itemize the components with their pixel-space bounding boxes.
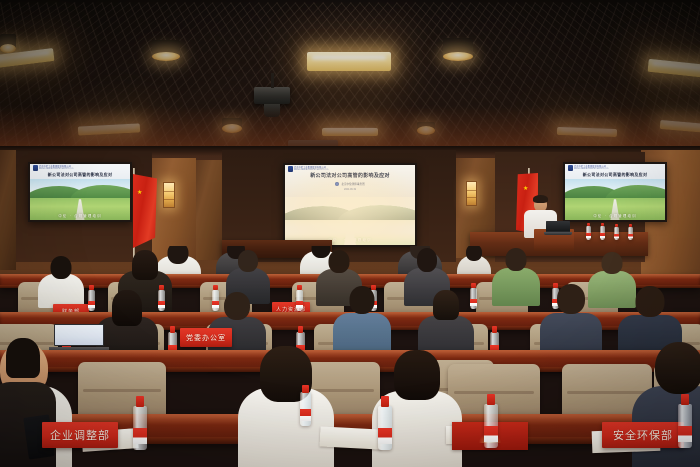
sconce-line bbox=[467, 197, 476, 198]
bottle-cap bbox=[298, 326, 304, 332]
bottle-label bbox=[678, 426, 692, 442]
logo-mark-icon bbox=[288, 166, 293, 172]
logo-subtext: BEIJING CHEMICAL INDUSTRY GROUP CO., LTD bbox=[294, 170, 329, 171]
bottle-cap bbox=[629, 224, 632, 227]
bottle-label bbox=[378, 428, 392, 444]
logo-mark-icon bbox=[568, 165, 573, 171]
slide-header: 北京中伦工业集团股份有限公司 BEIJING CHEMICAL INDUSTRY… bbox=[30, 164, 130, 179]
bottle-cap bbox=[601, 223, 604, 226]
bottle-cap bbox=[471, 283, 475, 288]
logo-subtext: BEIJING CHEMICAL INDUSTRY GROUP CO., LTD bbox=[39, 169, 74, 170]
sconce-line bbox=[164, 199, 174, 200]
bottle-cap bbox=[381, 396, 390, 407]
attendee-head bbox=[506, 248, 527, 271]
red-flag-left: ★ bbox=[133, 174, 157, 248]
wall-sconce-light bbox=[466, 181, 477, 206]
water-bottle bbox=[378, 406, 392, 450]
screen-surface: 北京中伦工业集团股份有限公司 BEIJING CHEMICAL INDUSTRY… bbox=[285, 165, 415, 245]
ceiling bbox=[0, 0, 700, 152]
water-bottle bbox=[158, 290, 165, 311]
attendee-head bbox=[6, 338, 40, 378]
bottle-cap bbox=[487, 394, 496, 405]
water-bottle bbox=[614, 227, 619, 240]
attendee-torso bbox=[492, 268, 540, 306]
attendee-head bbox=[112, 290, 142, 326]
water-bottle bbox=[678, 404, 692, 448]
attendee-head bbox=[132, 250, 158, 280]
slide-title: 新公司法对公司高管的影响及应对 bbox=[583, 171, 648, 178]
bottle-cap bbox=[681, 394, 690, 405]
nameplate-text: 安全环保部 bbox=[613, 427, 673, 443]
bottle-cap bbox=[615, 224, 618, 227]
bottle-cap bbox=[587, 223, 590, 226]
water-bottle bbox=[300, 392, 311, 426]
flag-star-icon: ★ bbox=[523, 186, 528, 193]
bottle-label bbox=[586, 233, 591, 238]
bottle-cap bbox=[297, 285, 301, 290]
attendee-head bbox=[557, 284, 585, 314]
desk-nameplate: 安全环保部 bbox=[602, 422, 684, 448]
slide-header: 北京中伦工业集团股份有限公司 BEIJING CHEMICAL INDUSTRY… bbox=[285, 165, 415, 197]
company-logo: 北京中伦工业集团股份有限公司 BEIJING CHEMICAL INDUSTRY… bbox=[33, 165, 74, 171]
nameplate-text: 企业调整部 bbox=[50, 427, 110, 443]
attendee-head bbox=[466, 246, 482, 261]
bottle-label bbox=[484, 426, 498, 442]
attendee-head bbox=[433, 290, 459, 320]
slide-header: 北京中伦工业集团股份有限公司 BEIJING CHEMICAL INDUSTRY… bbox=[565, 164, 665, 179]
seated-attendee bbox=[238, 346, 334, 467]
side-projection-screen-right: 北京中伦工业集团股份有限公司 BEIJING CHEMICAL INDUSTRY… bbox=[563, 162, 667, 222]
sconce-line bbox=[164, 191, 174, 192]
wall-sconce-light bbox=[163, 182, 175, 208]
presenter-name: 北京中伦律师事务所 bbox=[341, 182, 364, 186]
attendee-head bbox=[417, 248, 437, 272]
nameplate-text: 党委办公室 bbox=[186, 333, 226, 343]
paper-handout bbox=[320, 426, 383, 449]
company-logo: 北京中伦工业集团股份有限公司 BEIJING CHEMICAL INDUSTRY… bbox=[288, 166, 329, 172]
slide-photo: 中伦 · 合规管理培训 bbox=[565, 179, 665, 220]
audience-floor-area: 财务部 人力资源部 bbox=[0, 246, 700, 467]
water-bottle bbox=[586, 226, 591, 240]
screen-surface: 北京中伦工业集团股份有限公司 BEIJING CHEMICAL INDUSTRY… bbox=[565, 164, 665, 220]
seated-attendee bbox=[457, 246, 491, 276]
slide-photo: 中伦 · 合规管理培训 bbox=[30, 179, 130, 220]
side-projection-screen-left: 北京中伦工业集团股份有限公司 BEIJING CHEMICAL INDUSTRY… bbox=[28, 162, 132, 222]
main-projection-screen: 北京中伦工业集团股份有限公司 BEIJING CHEMICAL INDUSTRY… bbox=[283, 163, 417, 247]
sconce-line bbox=[467, 190, 476, 191]
bottle-cap bbox=[492, 326, 498, 332]
bottle-label bbox=[133, 428, 147, 444]
water-bottle bbox=[296, 290, 303, 311]
desk-nameplate: 党委办公室 bbox=[180, 328, 232, 347]
attendee-head bbox=[51, 256, 72, 279]
bottle-cap bbox=[89, 285, 93, 290]
attendee-head bbox=[602, 252, 623, 274]
slide-tagline: 中伦 · 合规管理培训 bbox=[30, 213, 130, 218]
company-logo: 北京中伦工业集团股份有限公司 BEIJING CHEMICAL INDUSTRY… bbox=[568, 165, 609, 171]
water-bottle bbox=[628, 227, 633, 240]
conference-room-photo: 北京中伦工业集团股份有限公司 BEIJING CHEMICAL INDUSTRY… bbox=[0, 0, 700, 467]
bottle-label bbox=[300, 409, 311, 421]
bottle-cap bbox=[170, 326, 176, 332]
water-bottle bbox=[88, 290, 95, 311]
bottle-cap bbox=[213, 285, 217, 290]
attendee-head bbox=[224, 292, 250, 320]
bottle-cap bbox=[136, 396, 145, 407]
water-bottle bbox=[484, 404, 498, 448]
attendee-head bbox=[329, 250, 350, 273]
wall-wood-panel bbox=[196, 160, 222, 260]
seated-attendee bbox=[492, 248, 540, 306]
logo-subtext: BEIJING CHEMICAL INDUSTRY GROUP CO., LTD bbox=[574, 169, 609, 170]
slide-date: 2024.06.19 bbox=[344, 188, 356, 191]
bottle-cap bbox=[302, 385, 309, 393]
water-bottle bbox=[133, 406, 147, 450]
slide-title: 新公司法对公司高管的影响及应对 bbox=[48, 171, 113, 178]
desk-nameplate: 企业调整部 bbox=[42, 422, 118, 448]
presenter-seal-icon bbox=[335, 182, 339, 186]
attendee-head bbox=[394, 350, 440, 400]
bottle-cap bbox=[159, 285, 163, 290]
slide-tagline: 中伦 · 合规管理培训 bbox=[565, 213, 665, 218]
bottle-label bbox=[158, 301, 165, 309]
bottle-label bbox=[614, 234, 619, 239]
water-bottle bbox=[600, 226, 605, 240]
attendee-head bbox=[636, 286, 665, 317]
bottle-label bbox=[628, 234, 633, 239]
slide-presenter: 北京中伦律师事务所 bbox=[335, 182, 364, 186]
screen-surface: 北京中伦工业集团股份有限公司 BEIJING CHEMICAL INDUSTRY… bbox=[30, 164, 130, 220]
slide-photo: 中伦 · 合规管理培训 bbox=[285, 197, 415, 245]
bottle-label bbox=[296, 301, 303, 309]
flag-star-icon: ★ bbox=[137, 190, 142, 197]
laptop-keyboard bbox=[544, 232, 572, 235]
speaker-hair bbox=[533, 195, 548, 203]
attendee-head bbox=[655, 342, 700, 394]
laptop-screen bbox=[546, 221, 570, 231]
desk-sheen bbox=[0, 350, 700, 358]
slide-title: 新公司法对公司高管的影响及应对 bbox=[310, 173, 390, 180]
attendee-head bbox=[238, 250, 258, 272]
logo-mark-icon bbox=[33, 165, 38, 171]
seated-attendee bbox=[38, 256, 84, 308]
bottle-label bbox=[600, 233, 605, 238]
bottle-label bbox=[88, 301, 95, 309]
attendee-head bbox=[350, 286, 375, 314]
laptop bbox=[546, 221, 570, 235]
